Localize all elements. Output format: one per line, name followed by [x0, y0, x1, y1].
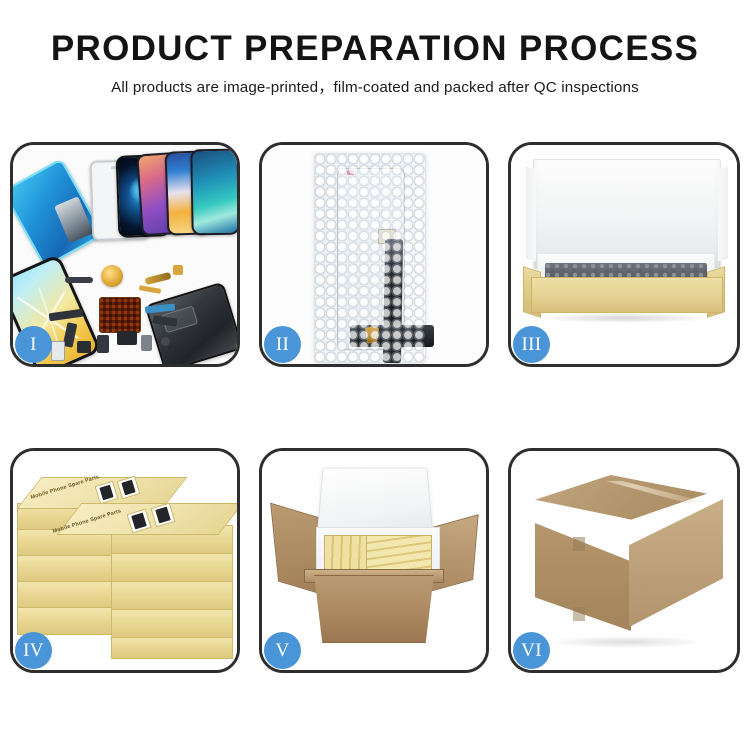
carton-seam-upper [573, 537, 585, 551]
step-badge-3: III [513, 326, 550, 363]
step-badge-4: IV [15, 632, 52, 669]
page-header: PRODUCT PREPARATION PROCESS All products… [0, 0, 750, 97]
step-card-4[interactable]: Mobile Phone Spare Parts Mobile Phone Sp… [10, 448, 240, 673]
pink-label-sticker [347, 170, 354, 175]
gold-contact-part [139, 285, 162, 294]
step-card-5[interactable]: V [259, 448, 489, 673]
box-drop-shadow [539, 313, 711, 323]
step-badge-6: VI [513, 632, 550, 669]
vibrator-motor-part [97, 335, 109, 353]
yellow-tray-front [531, 277, 723, 313]
stacked-box [17, 607, 115, 635]
button-part [161, 337, 170, 346]
stacked-box [111, 637, 233, 659]
step-card-6[interactable]: VI [508, 448, 740, 673]
bubble-wrap-bag [314, 153, 426, 363]
copper-pad-grid-part [99, 297, 141, 333]
step-badge-2: II [264, 326, 301, 363]
foam-lid [317, 468, 433, 532]
stacked-box [111, 609, 233, 639]
sim-tray-part [51, 341, 65, 361]
step-card-1[interactable]: I [10, 142, 240, 367]
copper-coil-part [101, 265, 123, 287]
step-card-3[interactable]: III [508, 142, 740, 367]
camera-module-part [77, 341, 91, 353]
stacked-box [17, 581, 115, 609]
speaker-module-part [117, 331, 137, 345]
gold-connector-part [145, 272, 172, 285]
step-badge-1: I [15, 326, 52, 363]
page-title: PRODUCT PREPARATION PROCESS [0, 30, 750, 67]
page-subtitle: All products are image-printed，film-coat… [0, 75, 750, 97]
stacked-box [17, 555, 115, 583]
carton-right-face [629, 499, 723, 627]
carton-drop-shadow [551, 636, 701, 648]
carton-body [306, 575, 442, 643]
step-badge-5: V [264, 632, 301, 669]
battery-connector-part [141, 335, 152, 351]
gold-chip-part [173, 265, 183, 275]
stacked-box [111, 581, 233, 611]
step-card-2[interactable]: II [259, 142, 489, 367]
lcd-screen-inside [337, 168, 405, 350]
phone-teal-display [190, 149, 237, 236]
process-steps-grid: I II [10, 142, 740, 673]
flex-cable-part [65, 277, 93, 283]
lcd-bottom-board [350, 325, 434, 347]
carton-seam-lower [573, 607, 585, 621]
stacked-box [111, 553, 233, 583]
